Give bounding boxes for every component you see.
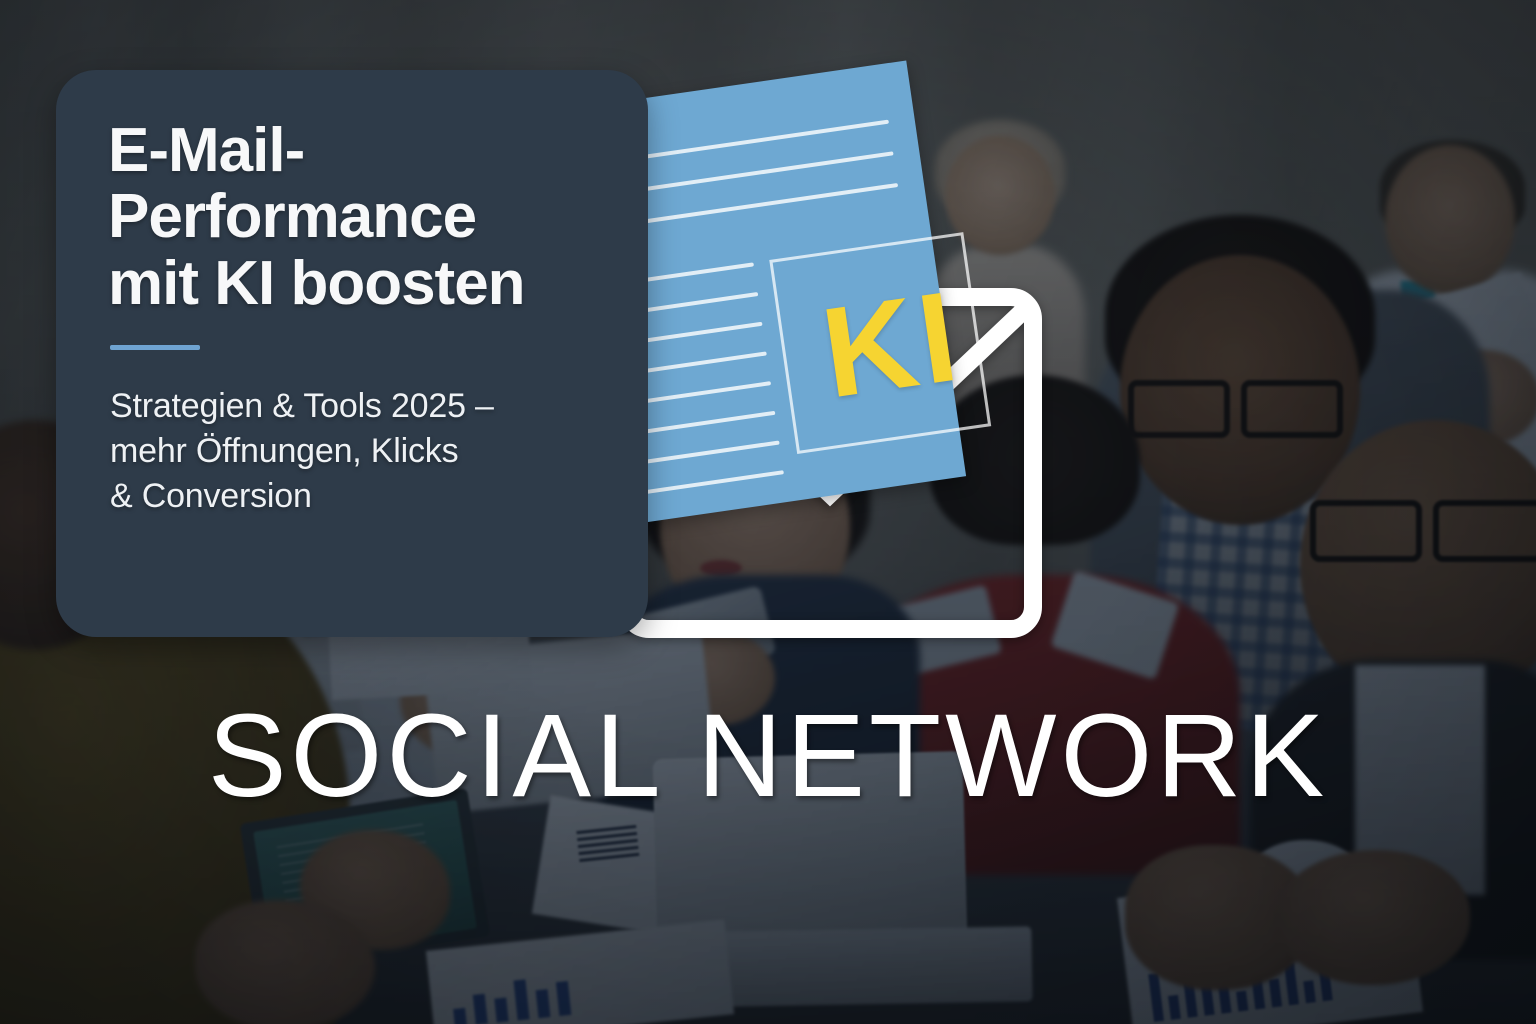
page-title: E-Mail- Performance mit KI boosten (108, 118, 594, 317)
page-subtitle: Strategien & Tools 2025 – mehr Öffnungen… (110, 384, 594, 520)
page-subtitle-line-2: mehr Öffnungen, Klicks (110, 432, 458, 470)
headline-card: E-Mail- Performance mit KI boosten Strat… (56, 70, 648, 637)
accent-divider (110, 345, 200, 350)
ki-badge-text: KI (774, 236, 1009, 454)
page-title-line-3: mit KI boosten (108, 249, 525, 318)
hero-banner: KI E-Mail- Performance mit KI boosten St… (0, 0, 1536, 1024)
page-subtitle-line-3: & Conversion (110, 477, 312, 515)
wordmark-social-network: SOCIAL NETWORK (0, 697, 1536, 815)
letter-line (633, 470, 784, 496)
page-subtitle-line-1: Strategien & Tools 2025 – (110, 387, 494, 425)
letter-line (629, 440, 780, 466)
page-title-line-2: Performance (108, 182, 476, 251)
page-title-line-1: E-Mail- (108, 116, 304, 185)
